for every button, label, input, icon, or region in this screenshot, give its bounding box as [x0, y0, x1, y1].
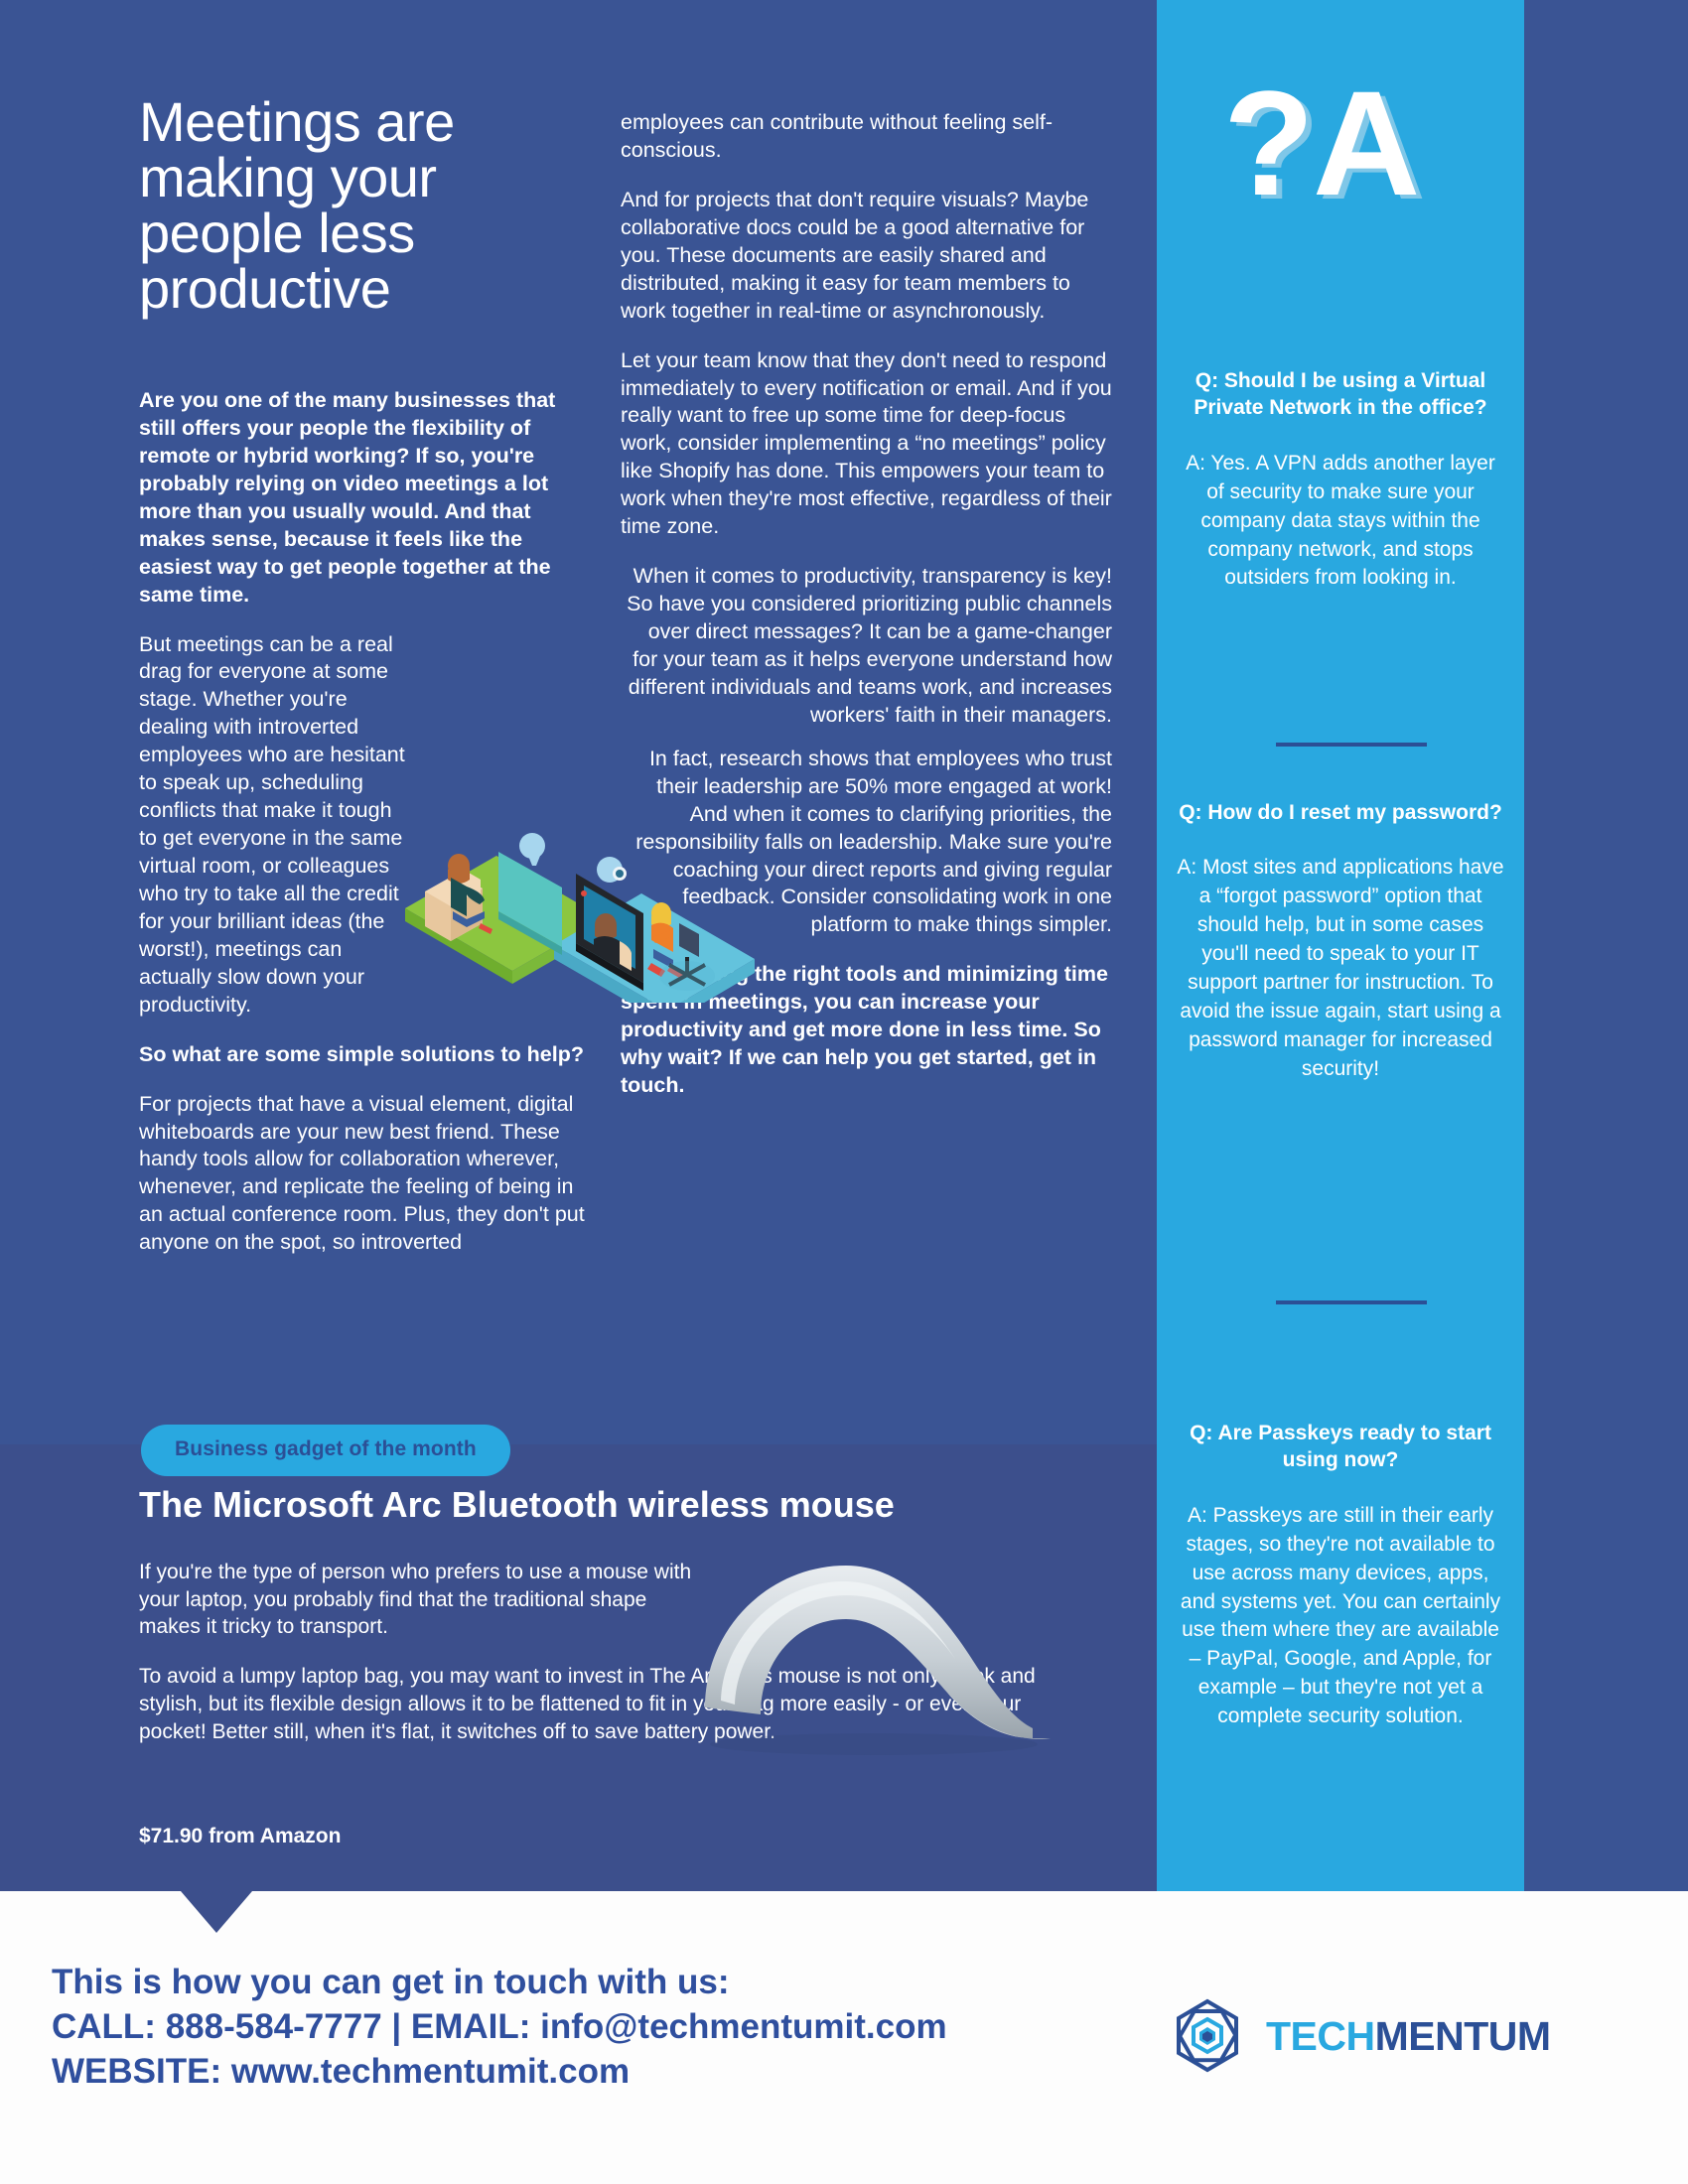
faq-item: Q: How do I reset my password? A: Most s…	[1177, 799, 1504, 1084]
faq-answer: A: Yes. A VPN adds another layer of secu…	[1177, 450, 1504, 594]
faq-answer: A: Passkeys are still in their early sta…	[1177, 1502, 1504, 1732]
faq-item: Q: Are Passkeys ready to start using now…	[1177, 1420, 1504, 1731]
middle-article-column: employees can contribute without feeling…	[621, 109, 1112, 1122]
paragraph-body: Let your team know that they don't need …	[621, 347, 1112, 542]
paragraph-body-shaped: In fact, research shows that employees w…	[621, 746, 1112, 940]
paragraph-body: But meetings can be a real drag for ever…	[139, 631, 409, 1020]
question-mark-a-icon: ? ? A A	[1219, 69, 1468, 228]
faq-question: Q: How do I reset my password?	[1177, 799, 1504, 826]
paragraph-lead: Are you one of the many businesses that …	[139, 387, 591, 610]
paragraph-body: And for projects that don't require visu…	[621, 187, 1112, 326]
techmentum-hex-logo-icon	[1167, 1995, 1248, 2077]
faq-answer: A: Most sites and applications have a “f…	[1177, 854, 1504, 1084]
svg-text:A: A	[1313, 69, 1420, 226]
logo-wordmark: TECHMENTUM	[1266, 2013, 1551, 2060]
page-title: Meetings are making your people less pro…	[139, 94, 576, 317]
gadget-title: The Microsoft Arc Bluetooth wireless mou…	[139, 1484, 1092, 1526]
faq-divider	[1276, 1300, 1427, 1304]
right-edge-background	[1524, 0, 1688, 1891]
faq-divider	[1276, 743, 1427, 747]
company-logo: TECHMENTUM	[1167, 1995, 1551, 2077]
paragraph-body: employees can contribute without feeling…	[621, 109, 1112, 165]
faq-item: Q: Should I be using a Virtual Private N…	[1177, 367, 1504, 593]
footer-phone-email[interactable]: CALL: 888-584-7777 | EMAIL: info@techmen…	[52, 2005, 947, 2050]
footer-notch-triangle	[181, 1891, 252, 1933]
newsletter-page: Meetings are making your people less pro…	[0, 0, 1688, 2184]
logo-tech: TECH	[1266, 2013, 1375, 2059]
logo-mentum: MENTUM	[1375, 2013, 1551, 2059]
paragraph-body: If you're the type of person who prefers…	[139, 1559, 705, 1641]
gadget-price: $71.90 from Amazon	[139, 1825, 341, 1848]
paragraph-subhead: So what are some simple solutions to hel…	[139, 1041, 591, 1069]
footer-intro: This is how you can get in touch with us…	[52, 1961, 947, 2005]
status-badge: Business gadget of the month	[141, 1425, 510, 1476]
arc-mouse-image	[675, 1534, 1102, 1762]
footer-website[interactable]: WEBSITE: www.techmentumit.com	[52, 2050, 947, 2095]
paragraph-closing: By choosing the right tools and minimizi…	[621, 961, 1112, 1100]
svg-text:?: ?	[1223, 69, 1315, 226]
footer-contact: This is how you can get in touch with us…	[52, 1961, 947, 2094]
faq-question: Q: Should I be using a Virtual Private N…	[1177, 367, 1504, 422]
faq-question: Q: Are Passkeys ready to start using now…	[1177, 1420, 1504, 1474]
paragraph-body-shaped: When it comes to productivity, transpare…	[621, 563, 1112, 730]
left-article-column: Are you one of the many businesses that …	[139, 387, 591, 1279]
paragraph-body: For projects that have a visual element,…	[139, 1091, 591, 1258]
